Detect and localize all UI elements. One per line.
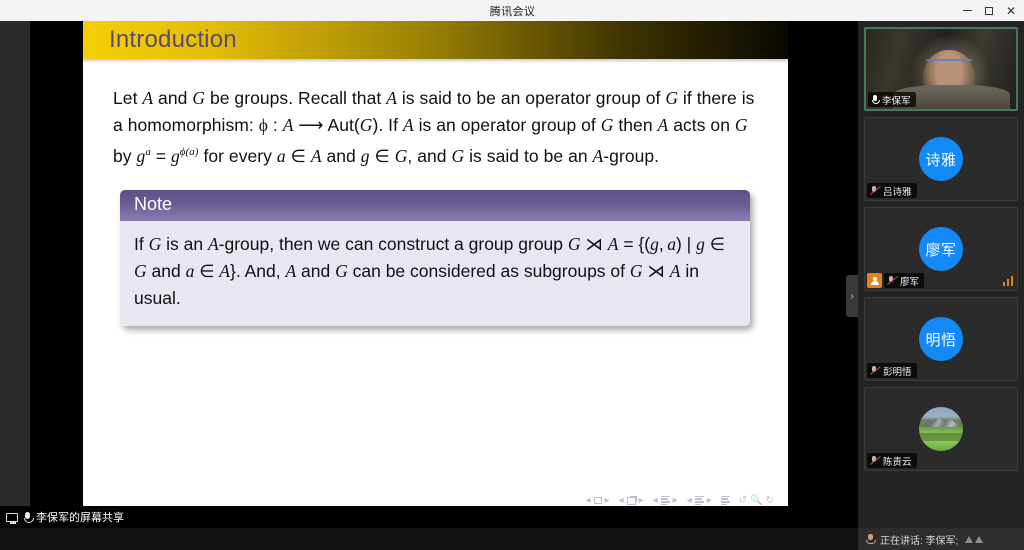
- monitor-icon: [6, 513, 18, 522]
- participant-name: 陈贵云: [883, 454, 912, 468]
- next-arrow-icon[interactable]: ▸: [605, 495, 610, 506]
- forward-icon[interactable]: ↻: [766, 495, 774, 506]
- nav-group-frame[interactable]: ◂ ▸: [586, 495, 610, 506]
- window-controls: ✕: [956, 0, 1024, 21]
- nav-group-subsection[interactable]: ◂ ▸: [619, 495, 644, 506]
- avatar-photo: [919, 407, 963, 451]
- speaking-status-bar: 正在讲话: 李保军;: [858, 528, 1024, 550]
- microphone-muted-icon: [870, 186, 880, 196]
- maximize-icon[interactable]: [978, 0, 1000, 21]
- participant-tile-libaojun[interactable]: 李保军: [864, 27, 1018, 111]
- signal-strength-icon: [1003, 276, 1014, 286]
- section-icon[interactable]: [661, 496, 670, 506]
- prev-arrow-icon[interactable]: ◂: [619, 495, 624, 506]
- nav-group-section[interactable]: ◂ ▸: [653, 495, 678, 506]
- participant-tile-pengmingwu[interactable]: 明悟 彭明悟: [864, 297, 1018, 381]
- screen-left-gutter: [0, 21, 30, 528]
- participants-sidebar: › 李保军 诗雅 吕诗雅: [858, 21, 1024, 550]
- subsection-icon[interactable]: [627, 497, 636, 505]
- participant-name: 廖军: [900, 274, 919, 288]
- nav-group-appendix[interactable]: [721, 496, 730, 506]
- participant-name: 李保军: [882, 93, 911, 107]
- beamer-navigation-bar[interactable]: ◂ ▸ ◂ ▸ ◂ ▸ ◂ ▸: [83, 495, 788, 506]
- slide-body: Let A and G be groups. Recall that A is …: [83, 59, 788, 326]
- prev-arrow-icon[interactable]: ◂: [586, 495, 591, 506]
- close-icon[interactable]: ✕: [1000, 0, 1022, 21]
- next-arrow-icon[interactable]: ▸: [707, 495, 712, 506]
- participant-name-chip: 李保军: [868, 92, 916, 107]
- microphone-icon: [22, 511, 32, 523]
- note-box: Note If G is an A-group, then we can con…: [120, 190, 750, 326]
- note-body: If G is an A-group, then we can construc…: [120, 221, 750, 326]
- presentation-slide: Introduction Let A and G be groups. Reca…: [83, 21, 788, 528]
- participant-name-chip: 廖军: [884, 273, 924, 288]
- participant-name-chip: 吕诗雅: [867, 183, 917, 198]
- window-title: 腾讯会议: [69, 3, 956, 19]
- glasses: [926, 59, 972, 66]
- shared-screen-area: Introduction Let A and G be groups. Reca…: [0, 21, 858, 528]
- next-arrow-icon[interactable]: ▸: [639, 495, 644, 506]
- participant-tile-list: 李保军 诗雅 吕诗雅 廖军 廖军: [858, 21, 1024, 471]
- slide-title: Introduction: [83, 26, 237, 54]
- microphone-muted-icon: [870, 456, 880, 466]
- avatar: 廖军: [919, 227, 963, 271]
- back-icon[interactable]: ↺: [739, 495, 747, 506]
- next-arrow-icon[interactable]: ▸: [673, 495, 678, 506]
- prev-arrow-icon[interactable]: ◂: [653, 495, 658, 506]
- frame-icon[interactable]: [594, 497, 602, 504]
- participant-name-chip: 彭明悟: [867, 363, 917, 378]
- slide-title-bar: Introduction: [83, 21, 788, 59]
- microphone-muted-icon: [870, 366, 880, 376]
- appendix-icon[interactable]: [721, 496, 730, 506]
- sidebar-collapse-handle[interactable]: ›: [846, 275, 858, 317]
- participant-name: 彭明悟: [883, 364, 912, 378]
- avatar: 诗雅: [919, 137, 963, 181]
- participant-tile-chenguiyun[interactable]: 陈贵云: [864, 387, 1018, 471]
- note-heading: Note: [120, 190, 750, 221]
- slide-paragraph: Let A and G be groups. Recall that A is …: [113, 85, 758, 170]
- microphone-speaking-icon: [866, 534, 875, 545]
- participant-tile-liaojun[interactable]: 廖军 廖军: [864, 207, 1018, 291]
- host-badge-icon: [867, 273, 882, 288]
- speaking-status-label: 正在讲话: 李保军;: [880, 532, 958, 547]
- participant-tile-lvshiya[interactable]: 诗雅 吕诗雅: [864, 117, 1018, 201]
- screen-share-label: 李保军的屏幕共享: [36, 509, 124, 525]
- tencent-meeting-window: 腾讯会议 ✕ Introduction Let A and G be group…: [0, 0, 1024, 550]
- document-icon[interactable]: [695, 496, 704, 506]
- window-title-bar: 腾讯会议 ✕: [0, 0, 1024, 21]
- search-icon[interactable]: 🔍: [750, 495, 762, 506]
- prev-arrow-icon[interactable]: ◂: [687, 495, 692, 506]
- participant-name-chip: 陈贵云: [867, 453, 917, 468]
- nav-group-history[interactable]: ↺ 🔍 ↻: [739, 495, 774, 506]
- screen-share-status-bar: 李保军的屏幕共享: [0, 506, 858, 528]
- participant-name: 吕诗雅: [883, 184, 912, 198]
- minimize-icon[interactable]: [956, 0, 978, 21]
- nav-group-document[interactable]: ◂ ▸: [687, 495, 712, 506]
- microphone-muted-icon: [887, 276, 897, 286]
- avatar: 明悟: [919, 317, 963, 361]
- audio-wave-icon: [965, 536, 983, 543]
- microphone-on-icon: [871, 95, 879, 105]
